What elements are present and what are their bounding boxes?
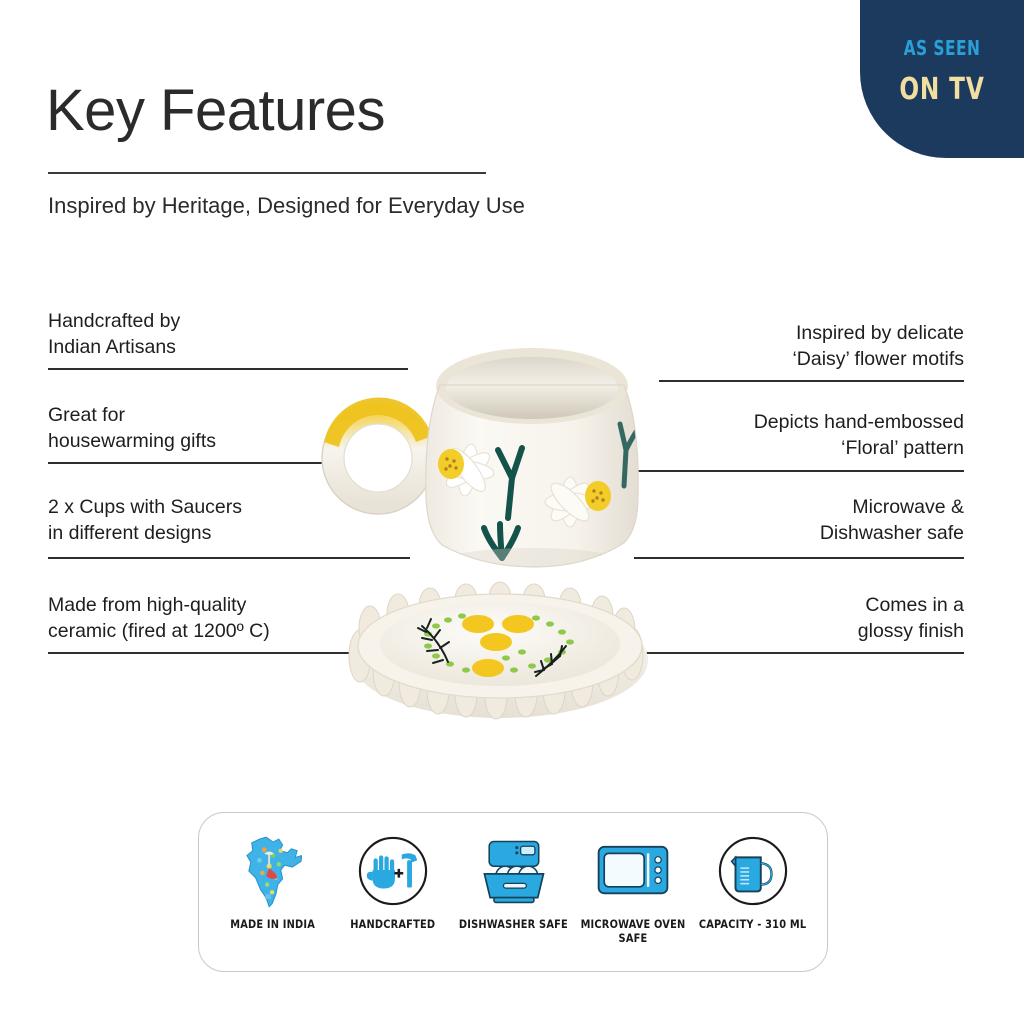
hand-hammer-icon: [357, 831, 429, 911]
feature-right-2: Depicts hand-embossed ‘Floral’ pattern: [754, 409, 964, 462]
as-seen-on-tv-badge: AS SEEN ON TV: [860, 0, 1024, 158]
cert-label: MADE IN INDIA: [231, 917, 316, 931]
badge-line-2: ON TV: [871, 72, 1012, 107]
feature-right-3: Microwave & Dishwasher safe: [820, 494, 964, 547]
title-underline: [48, 172, 486, 174]
microwave-icon: [594, 831, 672, 911]
cert-capacity: CAPACITY - 310 ML: [694, 831, 812, 931]
feature-right-1: Inspired by delicate ‘Daisy’ flower moti…: [792, 320, 964, 373]
feature-left-1: Handcrafted by Indian Artisans: [48, 308, 180, 361]
feature-left-3: 2 x Cups with Saucers in different desig…: [48, 494, 242, 547]
page-subtitle: Inspired by Heritage, Designed for Every…: [48, 190, 525, 222]
page-title: Key Features: [46, 82, 385, 140]
mug-interior: [446, 357, 618, 419]
cert-label: HANDCRAFTED: [350, 917, 435, 931]
cert-label: CAPACITY - 310 ML: [699, 917, 806, 931]
badge-line-1: AS SEEN: [871, 36, 1012, 60]
cert-label: DISHWASHER SAFE: [458, 917, 567, 931]
cert-microwave-oven-safe: MICROWAVE OVEN SAFE: [574, 831, 692, 946]
product-illustration: [300, 330, 720, 780]
saucer-graphic: [349, 582, 648, 719]
cert-label: MICROWAVE OVEN SAFE: [577, 917, 689, 946]
feature-left-4: Made from high-quality ceramic (fired at…: [48, 592, 270, 645]
feature-right-4: Comes in a glossy finish: [858, 592, 964, 645]
cert-made-in-india: MADE IN INDIA: [214, 831, 332, 931]
measuring-jug-icon: [717, 831, 789, 911]
cert-handcrafted: HANDCRAFTED: [334, 831, 452, 931]
cert-dishwasher-safe: DISHWASHER SAFE: [454, 831, 572, 931]
mug-handle: [322, 398, 434, 514]
certification-bar: MADE IN INDIA: [198, 812, 828, 972]
product-image: [300, 330, 720, 780]
feature-left-2: Great for housewarming gifts: [48, 402, 216, 455]
mug-graphic: [322, 348, 642, 592]
dishwasher-icon: [473, 831, 553, 911]
india-map-icon: [244, 831, 302, 911]
